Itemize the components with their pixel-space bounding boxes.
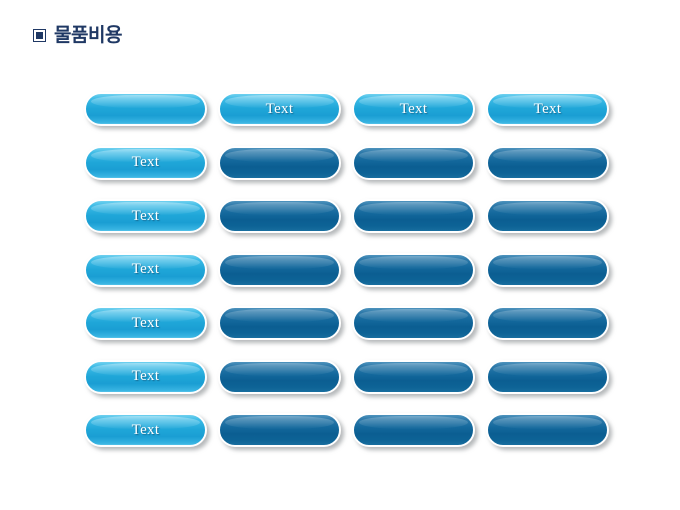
button-cell: Text xyxy=(84,253,207,287)
pill-button-r7-c4[interactable] xyxy=(486,413,609,447)
pill-button-label: Text xyxy=(132,369,160,384)
button-cell: Text xyxy=(84,146,207,180)
pill-button-r6-c2[interactable] xyxy=(218,360,341,394)
button-row: Text xyxy=(84,360,614,414)
button-cell: Text xyxy=(84,413,207,447)
button-row: Text xyxy=(84,199,614,253)
pill-button-r3-c3[interactable] xyxy=(352,199,475,233)
pill-button-r5-c4[interactable] xyxy=(486,306,609,340)
button-row: Text xyxy=(84,413,614,467)
button-cell xyxy=(352,146,475,180)
button-row: Text xyxy=(84,306,614,360)
pill-button-r6-c3[interactable] xyxy=(352,360,475,394)
button-cell xyxy=(218,413,341,447)
pill-button-label: Text xyxy=(132,209,160,224)
button-cell xyxy=(218,199,341,233)
button-cell xyxy=(486,413,609,447)
button-cell xyxy=(352,306,475,340)
pill-button-r3-c1[interactable]: Text xyxy=(84,199,207,233)
button-cell xyxy=(218,360,341,394)
button-cell: Text xyxy=(84,306,207,340)
pill-button-r1-c4[interactable]: Text xyxy=(486,92,609,126)
button-row: Text xyxy=(84,253,614,307)
button-cell xyxy=(84,92,207,126)
button-cell xyxy=(218,146,341,180)
pill-button-label: Text xyxy=(400,102,428,117)
pill-button-r5-c2[interactable] xyxy=(218,306,341,340)
button-cell xyxy=(352,199,475,233)
button-cell xyxy=(486,360,609,394)
button-cell: Text xyxy=(218,92,341,126)
pill-button-r1-c2[interactable]: Text xyxy=(218,92,341,126)
pill-button-r2-c4[interactable] xyxy=(486,146,609,180)
button-cell: Text xyxy=(84,360,207,394)
pill-button-r6-c4[interactable] xyxy=(486,360,609,394)
button-cell xyxy=(486,199,609,233)
pill-button-label: Text xyxy=(534,102,562,117)
pill-button-r2-c3[interactable] xyxy=(352,146,475,180)
pill-button-r3-c2[interactable] xyxy=(218,199,341,233)
pill-button-label: Text xyxy=(132,423,160,438)
button-cell: Text xyxy=(84,199,207,233)
pill-button-r1-c1[interactable] xyxy=(84,92,207,126)
button-cell xyxy=(352,360,475,394)
page-title: 물품비용 xyxy=(54,26,122,45)
pill-button-r7-c2[interactable] xyxy=(218,413,341,447)
pill-button-r4-c4[interactable] xyxy=(486,253,609,287)
pill-button-r3-c4[interactable] xyxy=(486,199,609,233)
button-grid: TextTextTextTextTextTextTextTextText xyxy=(84,92,614,467)
button-cell xyxy=(486,146,609,180)
pill-button-r1-c3[interactable]: Text xyxy=(352,92,475,126)
pill-button-label: Text xyxy=(132,316,160,331)
button-cell: Text xyxy=(486,92,609,126)
button-cell xyxy=(218,306,341,340)
button-row: Text xyxy=(84,146,614,200)
button-row: TextTextText xyxy=(84,92,614,146)
pill-button-label: Text xyxy=(132,262,160,277)
pill-button-r5-c3[interactable] xyxy=(352,306,475,340)
pill-button-label: Text xyxy=(266,102,294,117)
pill-button-r5-c1[interactable]: Text xyxy=(84,306,207,340)
button-cell xyxy=(352,413,475,447)
button-cell: Text xyxy=(352,92,475,126)
pill-button-r4-c1[interactable]: Text xyxy=(84,253,207,287)
button-cell xyxy=(218,253,341,287)
button-cell xyxy=(486,306,609,340)
pill-button-r7-c1[interactable]: Text xyxy=(84,413,207,447)
pill-button-r2-c1[interactable]: Text xyxy=(84,146,207,180)
button-cell xyxy=(352,253,475,287)
pill-button-r4-c3[interactable] xyxy=(352,253,475,287)
button-cell xyxy=(486,253,609,287)
pill-button-label: Text xyxy=(132,155,160,170)
pill-button-r7-c3[interactable] xyxy=(352,413,475,447)
pill-button-r4-c2[interactable] xyxy=(218,253,341,287)
square-bullet-icon xyxy=(33,29,46,42)
pill-button-r2-c2[interactable] xyxy=(218,146,341,180)
page-title-row: 물품비용 xyxy=(33,26,122,45)
pill-button-r6-c1[interactable]: Text xyxy=(84,360,207,394)
